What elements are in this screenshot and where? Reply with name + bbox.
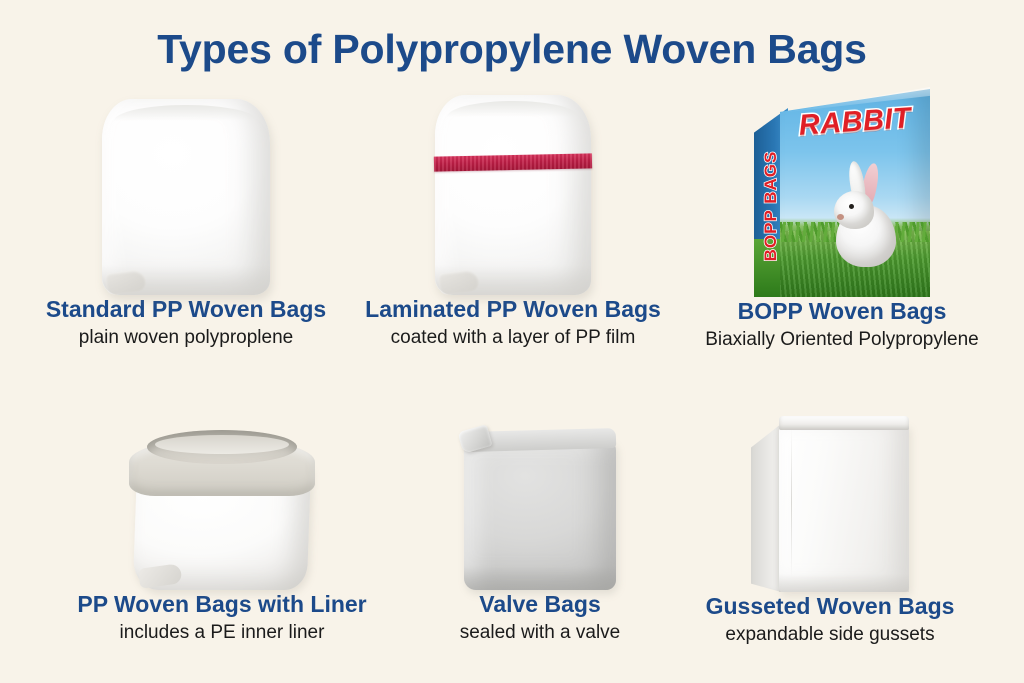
rabbit-eye	[849, 204, 854, 209]
gusseted-bag-graphic	[751, 416, 909, 592]
valve-bag-graphic	[464, 422, 616, 590]
card-gusseted-woven-bags: Gusseted Woven Bags expandable side guss…	[640, 410, 1020, 647]
liner-bottom-fold	[138, 563, 182, 589]
sack-bottom-fold	[438, 269, 480, 296]
card-title-gusseted: Gusseted Woven Bags	[640, 592, 1020, 620]
woven-sack-body	[435, 95, 591, 295]
card-bopp-woven-bags: BOPP BAGS RABBIT	[664, 82, 1020, 352]
card-subtitle-standard: plain woven polyproplene	[8, 326, 364, 350]
card-subtitle-laminated: coated with a layer of PP film	[360, 326, 666, 350]
card-subtitle-gusseted: expandable side gussets	[640, 623, 1020, 647]
illustration-liner-bag	[8, 418, 436, 590]
card-valve-bags: Valve Bags sealed with a valve	[404, 418, 676, 645]
card-standard-pp-woven-bags: Standard PP Woven Bags plain woven polyp…	[8, 90, 364, 350]
gusseted-bag-body	[751, 416, 909, 592]
gusseted-front-panel	[779, 424, 909, 592]
illustration-laminated-pp-woven-bag	[360, 90, 666, 295]
card-subtitle-liner: includes a PE inner liner	[8, 621, 436, 645]
card-title-laminated: Laminated PP Woven Bags	[360, 295, 666, 323]
sack-bottom-fold	[105, 269, 147, 296]
rabbit-illustration	[832, 163, 898, 267]
laminated-sack-graphic	[435, 95, 591, 295]
woven-sack-body	[102, 99, 270, 295]
card-subtitle-bopp: Biaxially Oriented Polypropylene	[664, 328, 1020, 352]
bopp-side-panel-text: BOPP BAGS	[761, 151, 781, 262]
gusseted-top-seal	[779, 416, 909, 430]
gusseted-fold-crease	[791, 428, 792, 578]
illustration-bopp-woven-bag: BOPP BAGS RABBIT	[664, 82, 1020, 297]
bopp-brand-text: RABBIT	[780, 101, 930, 144]
card-title-standard: Standard PP Woven Bags	[8, 295, 364, 323]
card-laminated-pp-woven-bags: Laminated PP Woven Bags coated with a la…	[360, 90, 666, 350]
page-title: Types of Polypropylene Woven Bags	[0, 27, 1024, 72]
liner-bag-graphic	[129, 424, 315, 590]
card-pp-woven-bags-with-liner: PP Woven Bags with Liner includes a PE i…	[8, 418, 436, 645]
illustration-gusseted-bag	[640, 410, 1020, 592]
liner-bag-body	[129, 424, 315, 590]
valve-bag-face	[464, 440, 616, 590]
infographic-poster: Types of Polypropylene Woven Bags Standa…	[0, 0, 1024, 683]
bopp-front-panel: RABBIT	[780, 89, 930, 297]
liner-open-mouth	[147, 430, 297, 464]
bopp-bag-body: BOPP BAGS RABBIT	[754, 89, 930, 297]
card-title-bopp: BOPP Woven Bags	[664, 297, 1020, 325]
card-title-valve: Valve Bags	[404, 590, 676, 618]
standard-sack-graphic	[102, 99, 270, 295]
valve-bag-body	[464, 422, 616, 590]
laminate-red-stripe	[434, 153, 592, 171]
bopp-bag-graphic: BOPP BAGS RABBIT	[754, 89, 930, 297]
gusseted-bottom-shadow	[779, 574, 909, 592]
rabbit-head	[834, 191, 874, 229]
illustration-standard-pp-woven-bag	[8, 90, 364, 295]
valve-bag-bottom-shadow	[464, 566, 616, 590]
card-title-liner: PP Woven Bags with Liner	[8, 590, 436, 618]
card-subtitle-valve: sealed with a valve	[404, 621, 676, 645]
rabbit-nose	[837, 214, 844, 220]
illustration-valve-bag	[404, 418, 676, 590]
gusseted-side-gusset	[751, 424, 781, 592]
